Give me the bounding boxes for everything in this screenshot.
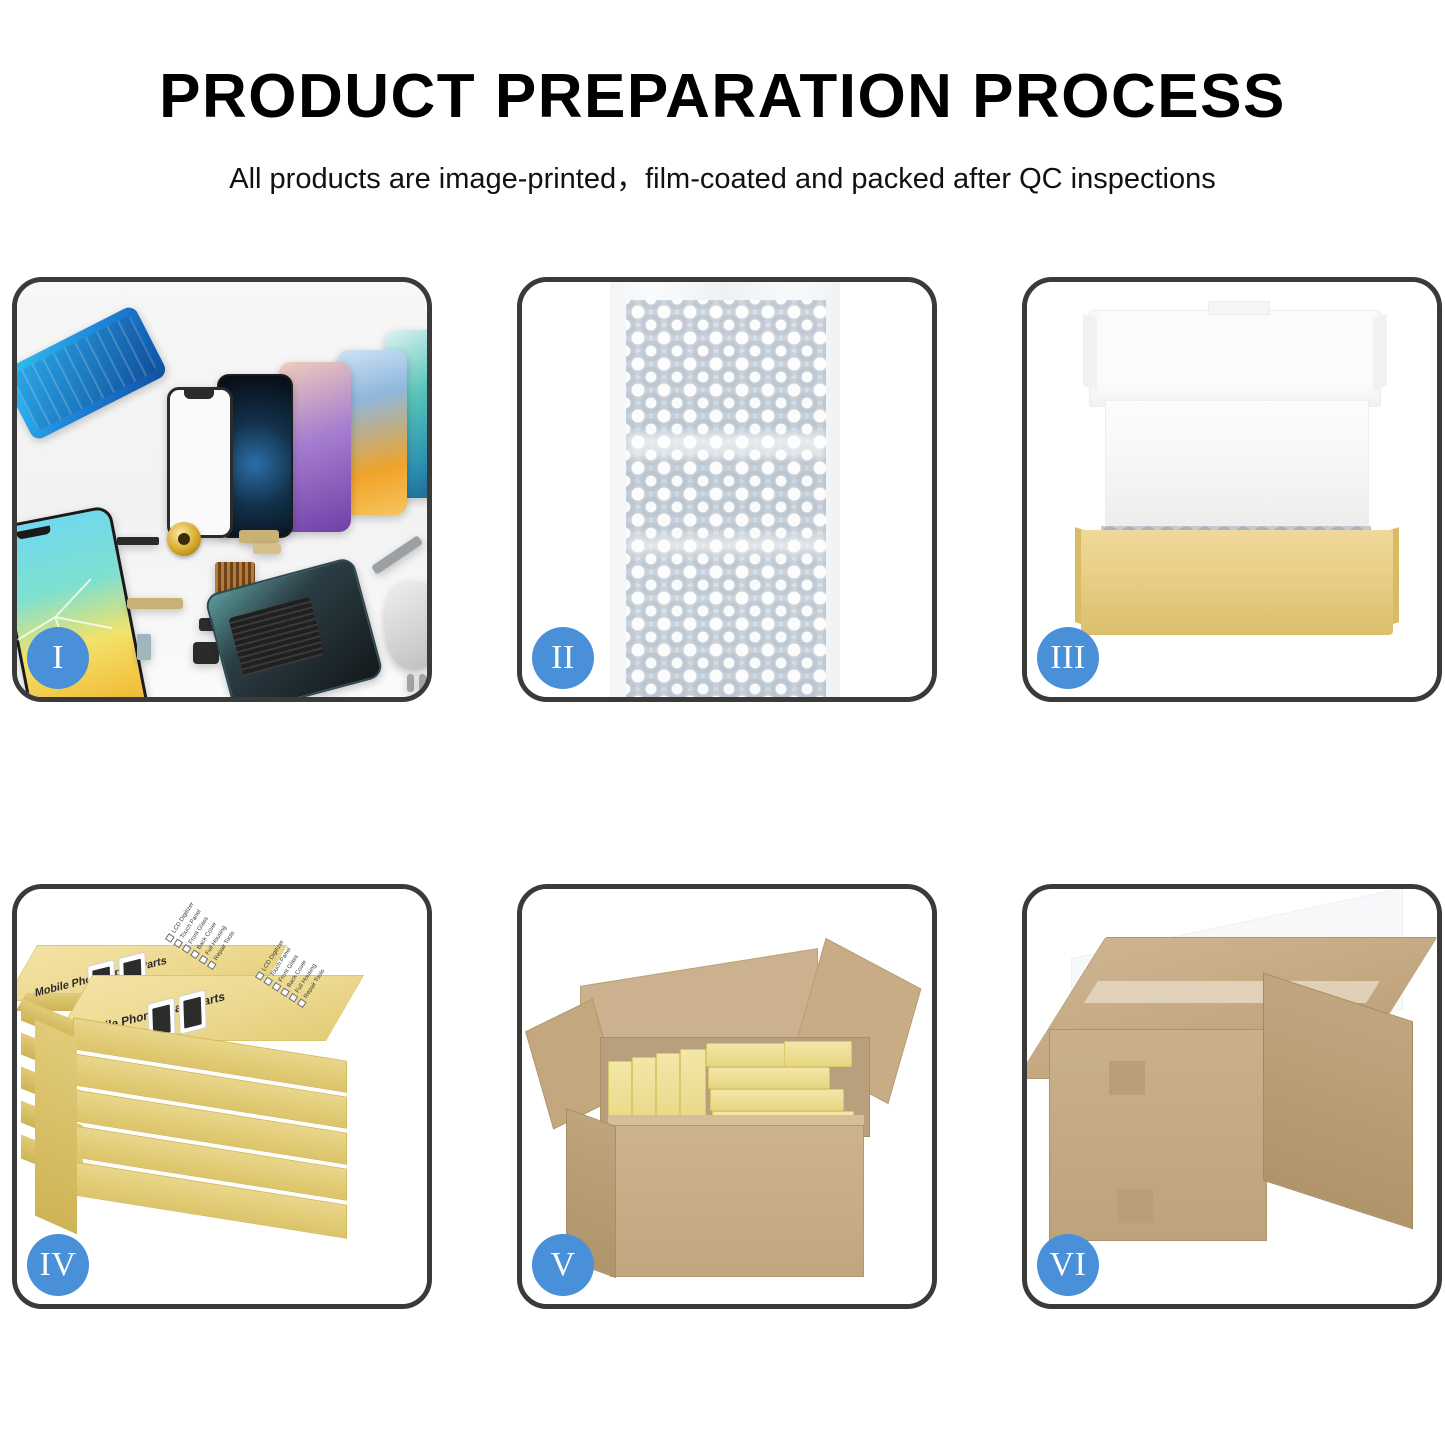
process-step-panel-4: Mobile Phone Spare Parts LCD Digitizer T… (12, 884, 432, 1309)
taptic-engine-part (193, 642, 219, 664)
page-title: PRODUCT PREPARATION PROCESS (0, 64, 1445, 129)
screw-part (419, 674, 426, 692)
step-badge-4: IV (27, 1234, 89, 1296)
process-step-panel-6: VI (1022, 884, 1442, 1309)
wrap-highlight (626, 432, 826, 458)
wireless-charging-coil-part (167, 522, 201, 556)
flex-cable-part (253, 544, 281, 554)
page-header: PRODUCT PREPARATION PROCESS All products… (0, 0, 1445, 197)
retail-box-in-carton (706, 1043, 786, 1067)
carton-front-face (1049, 1029, 1267, 1241)
flex-cable-part (127, 598, 183, 609)
crack-line (55, 578, 92, 617)
box-front-wall (1081, 530, 1393, 635)
white-foam-lining (1105, 400, 1369, 537)
wrap-highlight (626, 534, 826, 554)
checkbox-icon (165, 933, 175, 943)
process-step-grid: I II III (12, 277, 1433, 1309)
screw-part (407, 674, 414, 692)
box-lid-side-right (1373, 314, 1387, 390)
box-lid-side-left (1083, 314, 1097, 390)
process-step-panel-1: I (12, 277, 432, 702)
front-glass-panel (167, 387, 233, 538)
box-lid (1089, 310, 1381, 407)
carton-tab-upper (1109, 1061, 1145, 1095)
step-badge-2: II (532, 627, 594, 689)
step-badge-6: VI (1037, 1234, 1099, 1296)
page-subtitle: All products are image-printed，film-coat… (0, 155, 1445, 197)
process-step-panel-5: V (517, 884, 937, 1309)
retail-box-in-carton (784, 1041, 852, 1067)
process-step-panel-3: III (1022, 277, 1442, 702)
carton-tab-lower (1117, 1189, 1153, 1223)
carton-front-face (610, 1125, 864, 1277)
bubble-wrap-texture (626, 300, 826, 697)
connector-strip-part (117, 537, 159, 545)
step-badge-5: V (532, 1234, 594, 1296)
step-badge-3: III (1037, 627, 1099, 689)
step-badge-1: I (27, 627, 89, 689)
tweezers-tool (371, 535, 423, 575)
stack-side-face (35, 1020, 77, 1235)
flex-cable-part (239, 530, 279, 543)
retail-box-in-carton (710, 1089, 844, 1111)
blue-adhesive-frame (17, 304, 169, 442)
screen-thumbnail (178, 989, 207, 1035)
hand-holding-part (385, 582, 427, 670)
sim-tray-part (137, 634, 151, 660)
process-step-panel-2: II (517, 277, 937, 702)
retail-box-in-carton (708, 1067, 830, 1089)
